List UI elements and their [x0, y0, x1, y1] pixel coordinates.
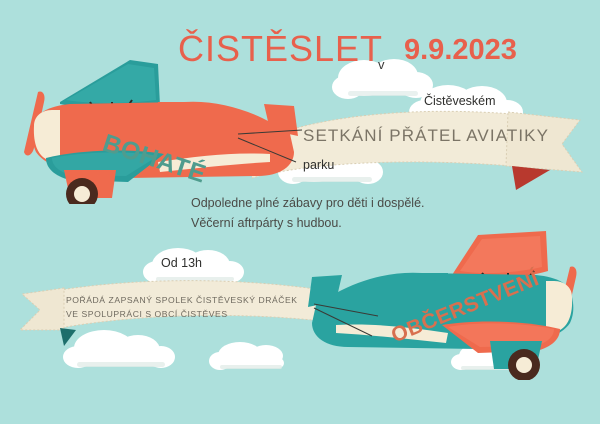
connector-word: v [378, 57, 385, 72]
poster-canvas: SETKÁNÍ PŘÁTEL AVIATIKY POŘÁDÁ ZAPSANÝ S… [0, 0, 600, 424]
cloud-label-start-time: Od 13h [161, 256, 202, 270]
body-copy-line1: Odpoledne plné zábavy pro děti i dospělé… [191, 196, 425, 210]
cloud-label-place-noun: parku [303, 158, 334, 172]
headline-banner-text: SETKÁNÍ PŘÁTEL AVIATIKY [303, 126, 549, 146]
cloud-label-place-adjective: Čistěveském [424, 94, 496, 108]
organizer-banner-line1: POŘÁDÁ ZAPSANÝ SPOLEK ČISTĚVESKÝ DRÁČEK [66, 295, 298, 305]
page-title: ČISTĚSLET [178, 28, 383, 70]
organizer-banner-line2: VE SPOLUPRÁCI S OBCÍ ČISTĚVES [66, 309, 228, 319]
connector-lines-bottom [312, 300, 382, 340]
event-date: 9.9.2023 [404, 34, 517, 67]
body-copy-line2: Věčerní aftrpárty s hudbou. [191, 216, 342, 230]
